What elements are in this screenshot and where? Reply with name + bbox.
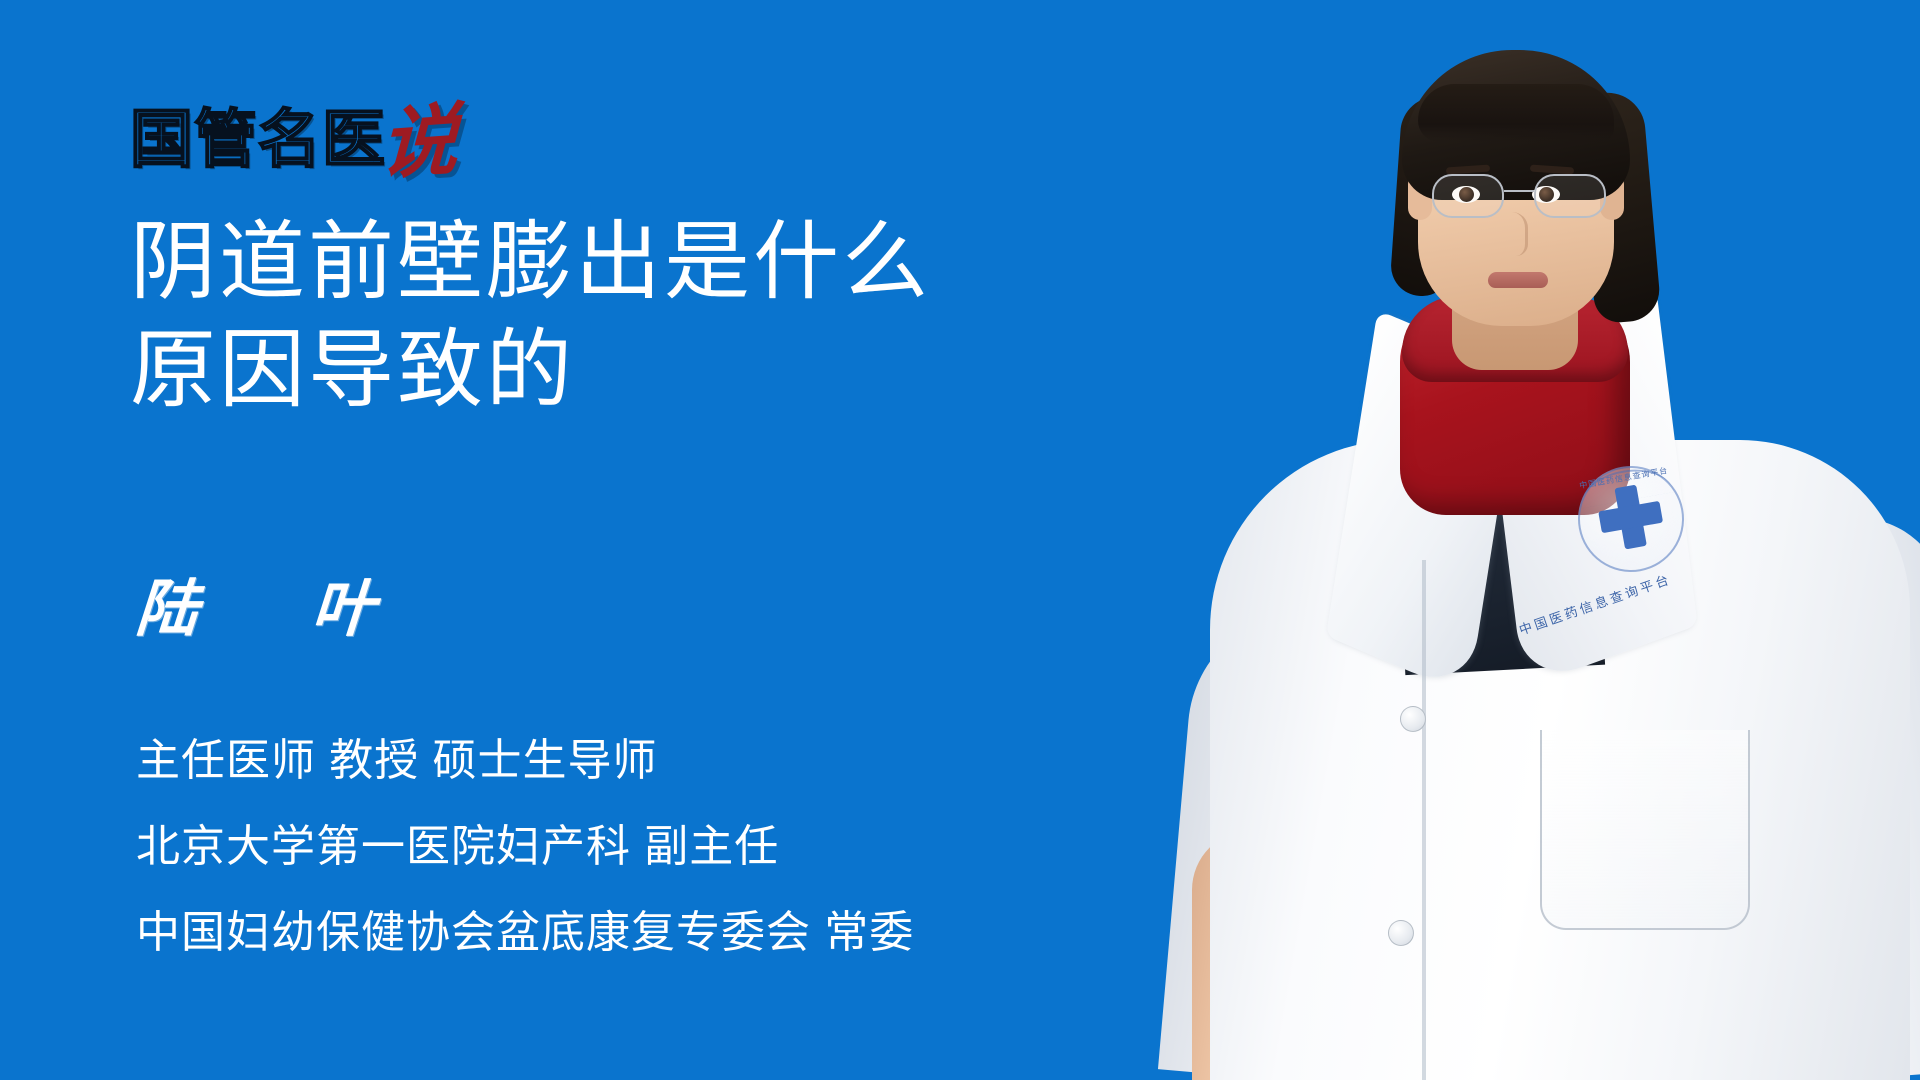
mouth [1488, 272, 1548, 288]
coat-badge: 中国医药信息查询平台 中国医药信息查询平台 [1570, 458, 1693, 581]
brand-logo: 国管名医 说 [130, 96, 458, 180]
coat-pocket [1540, 730, 1750, 930]
eyeglass-lens-right [1534, 174, 1606, 218]
nose [1506, 212, 1528, 256]
eyeglass-bridge [1504, 190, 1534, 192]
coat-button [1400, 706, 1426, 732]
doctor-credentials: 主任医师 教授 硕士生导师 北京大学第一医院妇产科 副主任 中国妇幼保健协会盆底… [136, 718, 914, 976]
doctor-portrait: 中国医药信息查询平台 中国医药信息查询平台 [1100, 0, 1920, 1080]
hair-fringe [1418, 84, 1614, 142]
credential-line-3: 中国妇幼保健协会盆底康复专委会 常委 [136, 890, 914, 976]
eyeglass-lens-left [1432, 174, 1504, 218]
video-cover-slide: 国管名医 说 阴道前壁膨出是什么 原因导致的 陆 叶 主任医师 教授 硕士生导师… [0, 0, 1920, 1080]
title-line-2: 原因导致的 [130, 316, 1160, 424]
brand-logo-shuo-char: 说 [379, 101, 460, 185]
doctor-name: 陆 叶 [134, 578, 402, 640]
coat-placket [1422, 560, 1426, 1080]
title-line-1: 阴道前壁膨出是什么 [130, 208, 1160, 316]
credential-line-1: 主任医师 教授 硕士生导师 [136, 718, 914, 804]
page-title: 阴道前壁膨出是什么 原因导致的 [130, 208, 1160, 424]
coat-button [1388, 920, 1414, 946]
credential-line-2: 北京大学第一医院妇产科 副主任 [136, 804, 914, 890]
brand-logo-text: 国管名医 [130, 108, 386, 171]
